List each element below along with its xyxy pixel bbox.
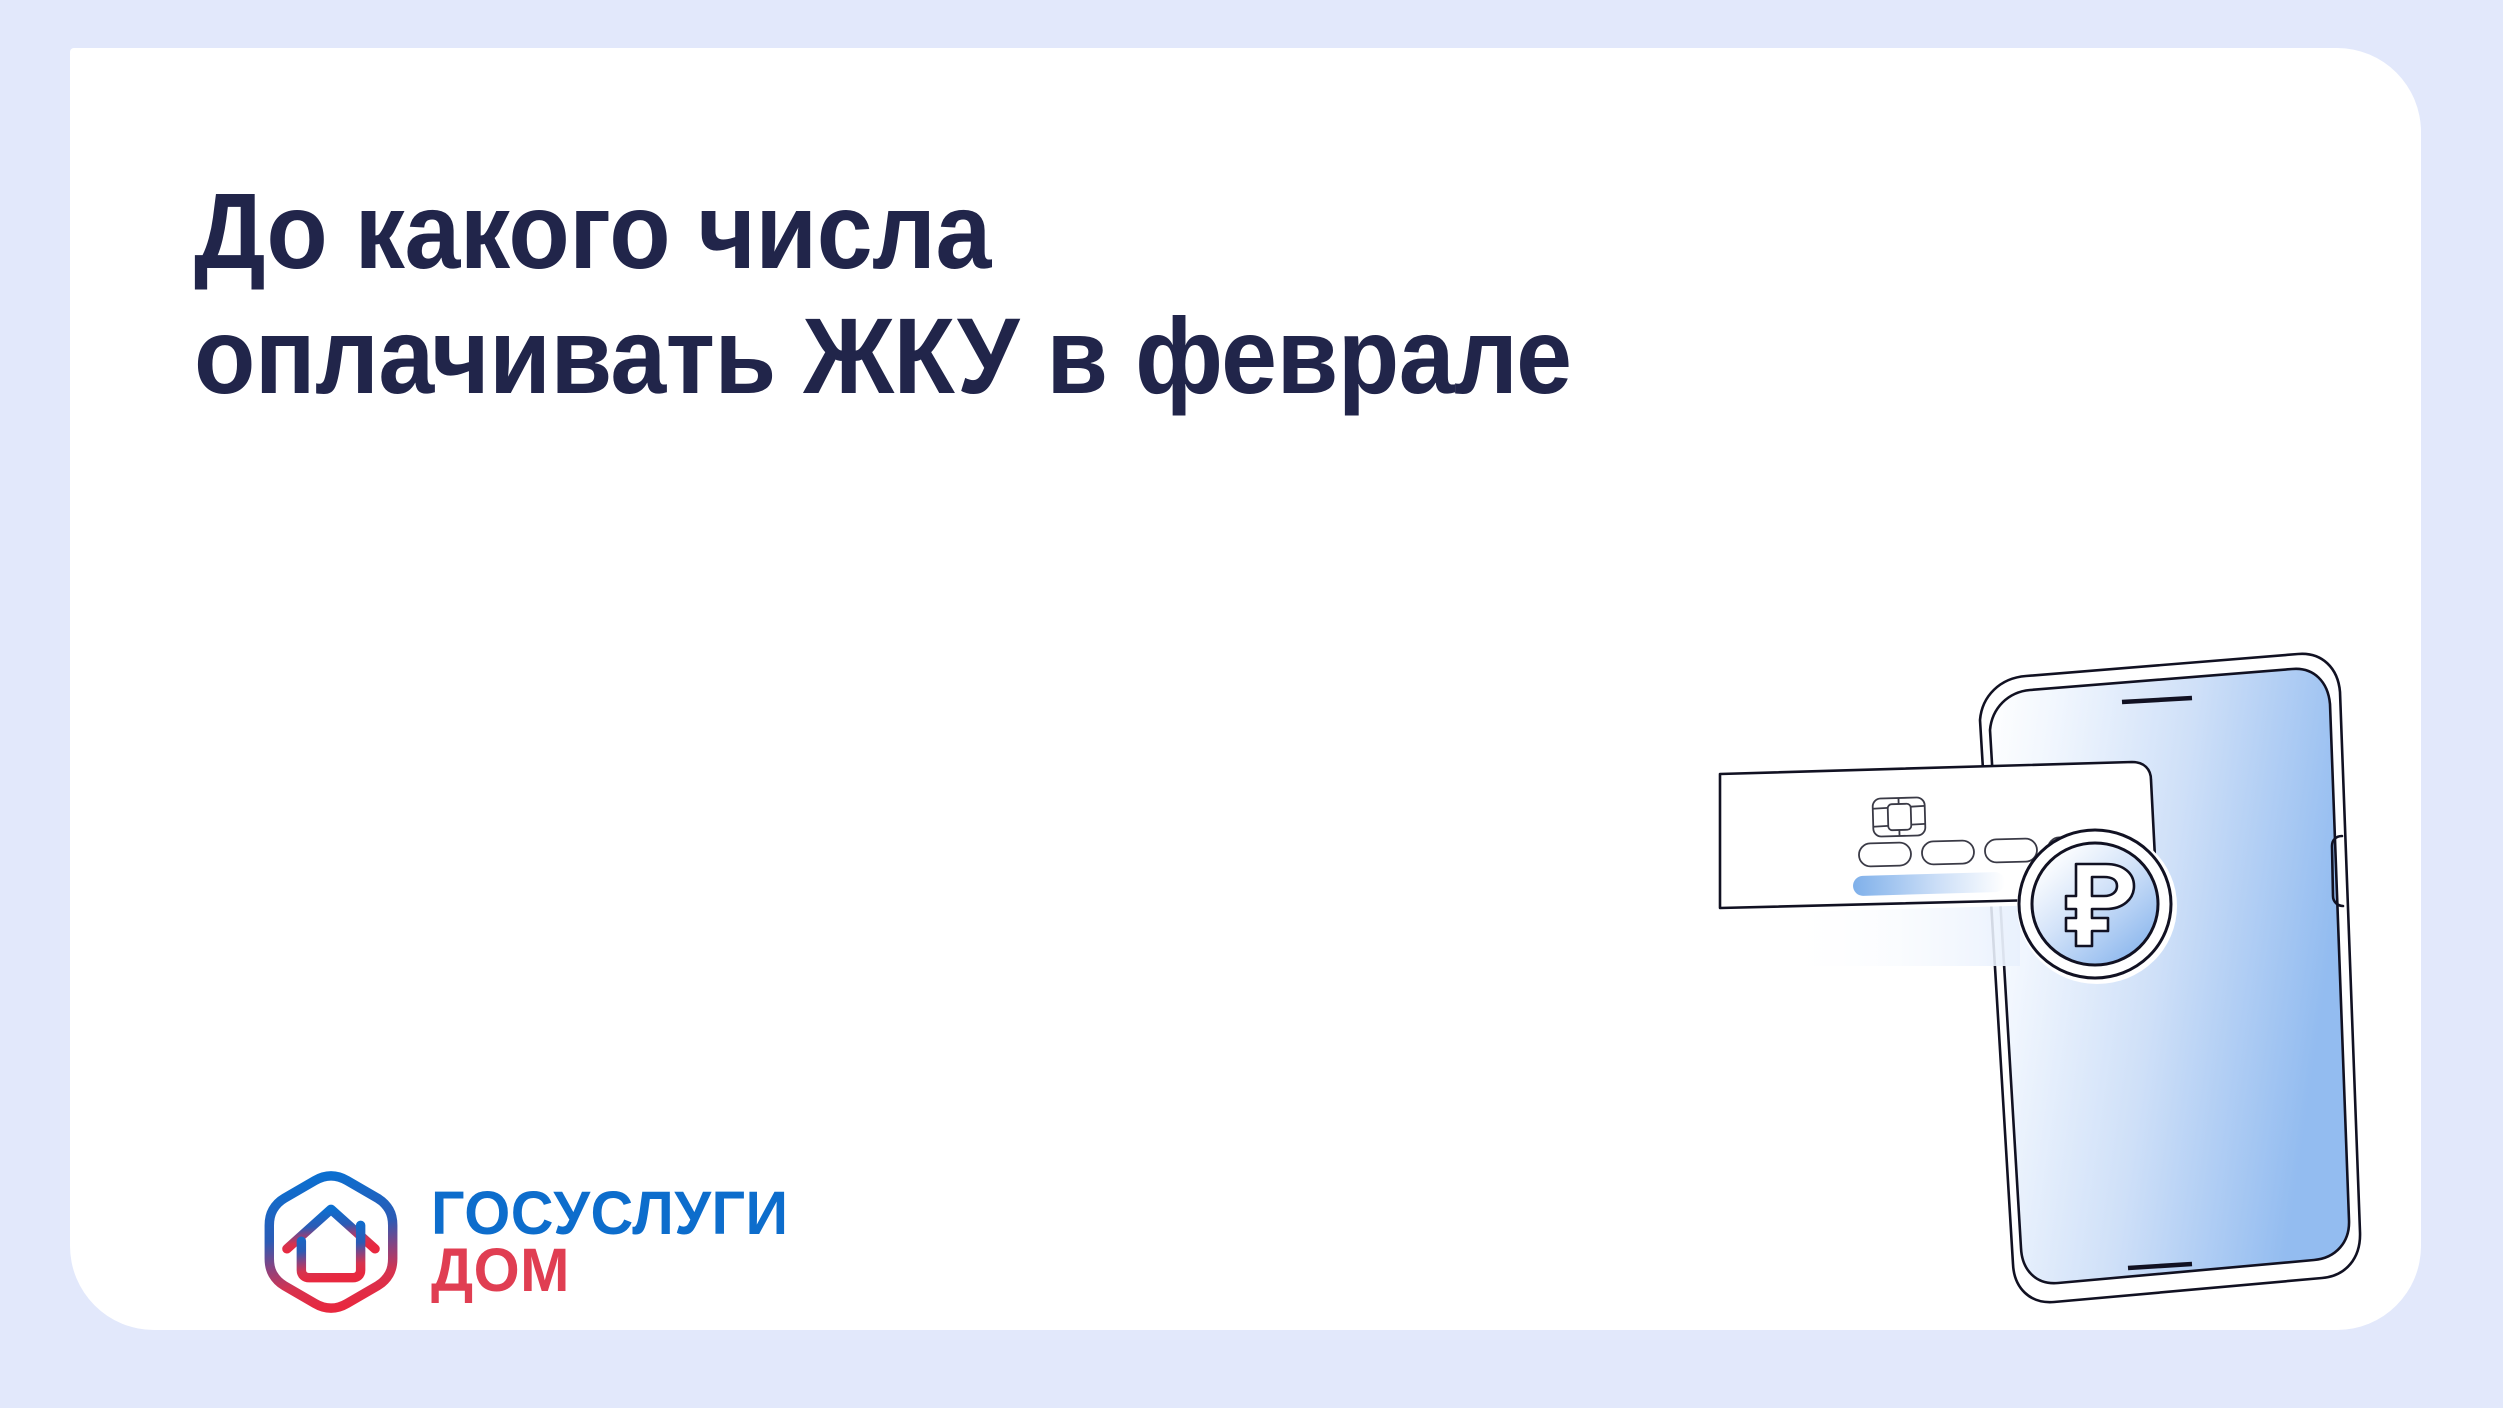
brand-word-dom: ДОМ <box>431 1242 789 1299</box>
page-title: До какого числа оплачивать ЖКУ в феврале <box>194 168 1775 419</box>
phone-card-ruble-coin-illustration <box>1840 608 2370 1348</box>
gosuslugi-dom-house-hexagon-icon <box>255 1166 407 1318</box>
banner-card: До какого числа оплачивать ЖКУ в феврале <box>70 48 2421 1330</box>
card-gradient-bar <box>1853 872 2005 896</box>
brand-logo[interactable]: ГОСУСЛУГИ ДОМ <box>255 1166 800 1318</box>
smartphone <box>1980 654 2360 1302</box>
brand-wordmark: ГОСУСЛУГИ ДОМ <box>431 1185 789 1300</box>
ruble-coin <box>2017 828 2177 984</box>
brand-word-gosuslugi: ГОСУСЛУГИ <box>431 1185 789 1242</box>
